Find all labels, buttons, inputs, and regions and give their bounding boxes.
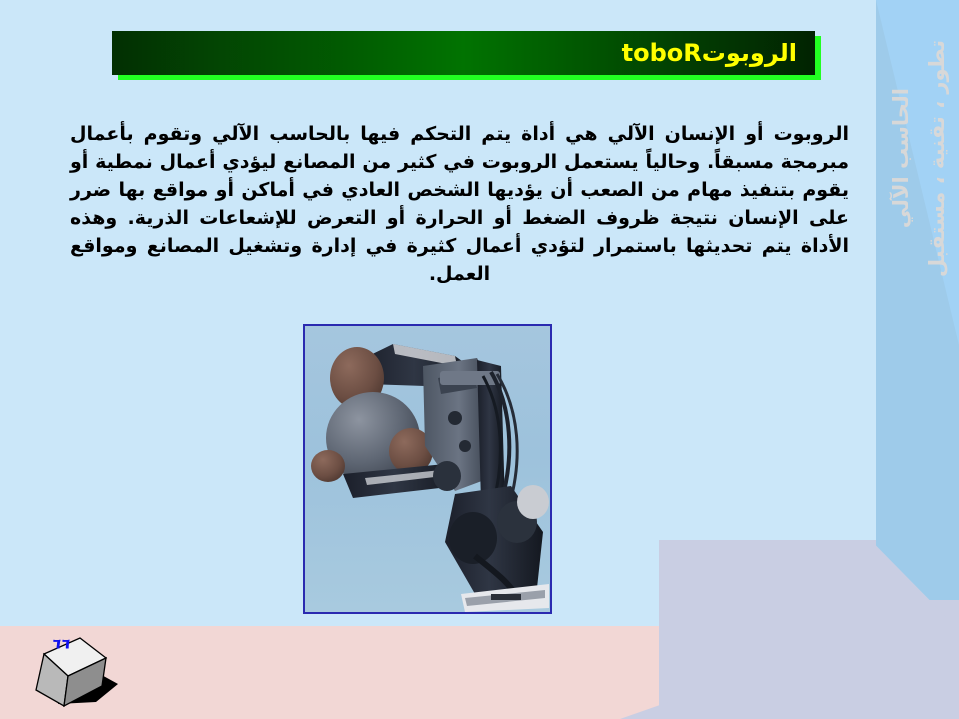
slide-canvas: الروبوتRobot الروبوت أو الإنسان الآلي هي… [0, 0, 959, 719]
robot-photo [303, 324, 552, 614]
page-number-block: ٦٦ [22, 632, 130, 714]
robot-arm-illustration [305, 326, 550, 612]
sidebar-vertical-text-secondary: الحاسب الآلي [889, 88, 913, 228]
title-banner: الروبوتRobot [112, 31, 815, 75]
sidebar-vertical-text-primary: تطور ، تقنية ، مستقبل [925, 40, 949, 277]
page-title: الروبوتRobot [622, 39, 797, 67]
cube-icon [22, 632, 130, 714]
body-paragraph: الروبوت أو الإنسان الآلي هي أداة يتم الت… [70, 120, 849, 288]
